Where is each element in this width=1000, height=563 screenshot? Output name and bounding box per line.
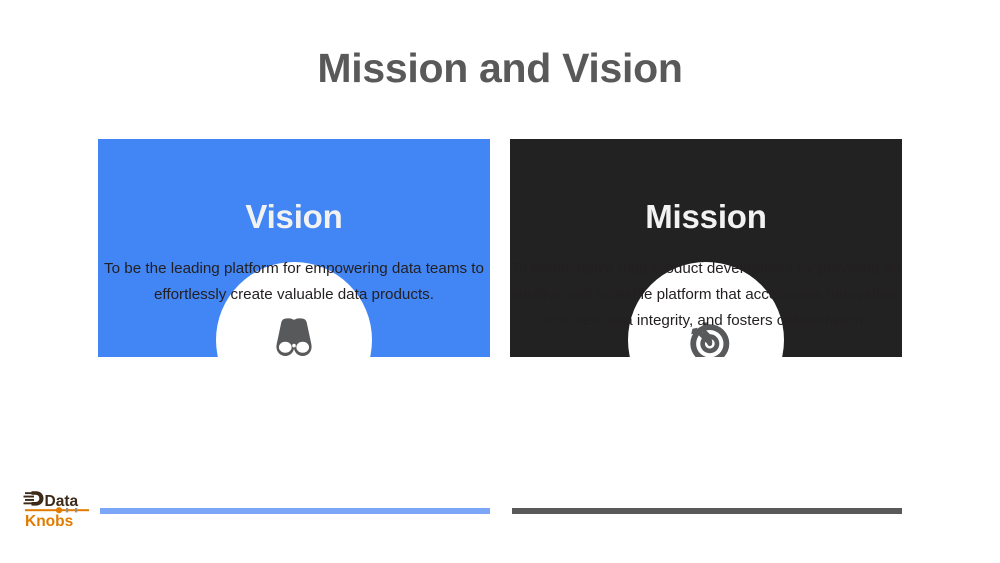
page-title: Mission and Vision [0,40,1000,96]
dataknobs-logo[interactable]: Data Knobs [23,489,95,529]
column-vision: Vision [98,139,490,357]
binoculars-icon [265,311,323,357]
logo-text-data: Data [45,493,79,510]
slide-canvas: Mission and Vision Vision To be the lead… [0,0,1000,563]
card-title-vision: Vision [98,197,490,237]
dataknobs-logo-mark: Data Knobs [23,489,95,529]
logo-text-knobs: Knobs [25,513,73,529]
card-title-mission: Mission [510,197,902,237]
accent-bar-mission [512,508,902,514]
accent-bar-vision [100,508,490,514]
card-vision: Vision [98,139,490,357]
card-body-vision: To be the leading platform for empowerin… [98,256,490,308]
card-body-mission: To democratize data product development … [510,256,902,334]
